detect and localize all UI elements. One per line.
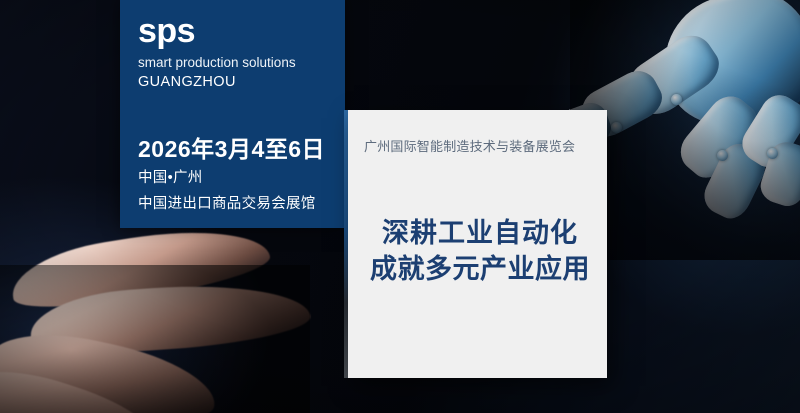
headline-line-2: 成就多元产业应用 bbox=[360, 252, 600, 288]
event-location: 中国•广州 bbox=[138, 167, 345, 189]
event-date-block: 2026年3月4至6日 中国•广州 中国进出口商品交易会展馆 bbox=[138, 136, 345, 215]
exhibition-headline: 深耕工业自动化 成就多元产业应用 bbox=[360, 216, 600, 288]
sps-city-label: GUANGZHOU bbox=[138, 73, 345, 92]
exhibition-banner: sps smart production solutions GUANGZHOU… bbox=[0, 0, 800, 413]
exhibition-subtitle: 广州国际智能制造技术与装备展览会 bbox=[364, 136, 575, 155]
sps-brand-wordmark: sps bbox=[138, 14, 345, 48]
sps-tagline: smart production solutions bbox=[138, 54, 345, 72]
event-date: 2026年3月4至6日 bbox=[138, 136, 345, 162]
content-panel: 广州国际智能制造技术与装备展览会 深耕工业自动化 成就多元产业应用 bbox=[348, 110, 607, 378]
headline-line-1: 深耕工业自动化 bbox=[382, 218, 578, 248]
event-venue: 中国进出口商品交易会展馆 bbox=[138, 193, 345, 215]
sps-logo-panel: sps smart production solutions GUANGZHOU… bbox=[120, 0, 345, 228]
